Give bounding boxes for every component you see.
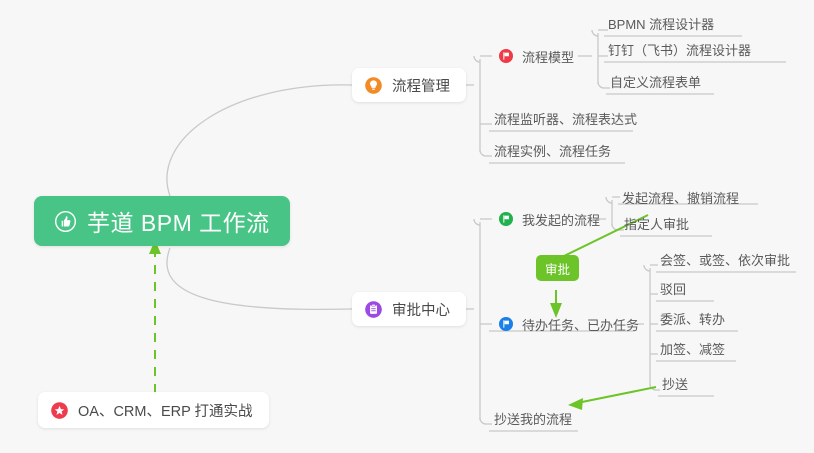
node-dingtalk-feishu-designer-label: 钉钉（飞书）流程设计器 — [608, 40, 751, 59]
node-cc-to-me[interactable]: 抄送我的流程 — [486, 404, 582, 432]
node-assignee-approval[interactable]: 指定人审批 — [616, 209, 699, 237]
link-mine-cap-top — [606, 197, 612, 203]
link-todo-cap-top — [644, 265, 650, 271]
floating-note-node[interactable]: OA、CRM、ERP 打通实战 — [38, 392, 269, 428]
node-listener-expression-label: 流程监听器、流程表达式 — [494, 109, 637, 128]
node-reject-label: 驳回 — [660, 279, 686, 298]
node-bpmn-designer[interactable]: BPMN 流程设计器 — [600, 9, 724, 37]
node-todo-done-tasks[interactable]: 待办任务、已办任务 — [492, 310, 649, 338]
node-start-cancel-process[interactable]: 发起流程、撤销流程 — [614, 183, 749, 211]
mindmap-canvas: 芋道 BPM 工作流 OA、CRM、ERP 打通实战 流程管理 — [0, 0, 814, 453]
node-multi-sign[interactable]: 会签、或签、依次审批 — [652, 245, 800, 273]
node-custom-process-form-label: 自定义流程表单 — [610, 72, 701, 91]
node-add-remove-sign[interactable]: 加签、减签 — [652, 334, 735, 362]
star-icon — [50, 401, 69, 420]
clipboard-icon — [364, 300, 383, 319]
flag-blue-icon — [498, 316, 514, 332]
approval-tag-label: 审批 — [545, 259, 570, 278]
flag-red-icon — [498, 48, 514, 64]
node-instance-task-label: 流程实例、流程任务 — [494, 141, 611, 160]
node-reject[interactable]: 驳回 — [652, 274, 696, 302]
arrow-cc-to-ccme — [577, 387, 656, 403]
node-cc-to-me-label: 抄送我的流程 — [494, 409, 572, 428]
node-instance-task[interactable]: 流程实例、流程任务 — [486, 136, 621, 164]
node-my-started-process[interactable]: 我发起的流程 — [492, 205, 610, 233]
node-cc-label: 抄送 — [662, 374, 688, 393]
node-bpmn-designer-label: BPMN 流程设计器 — [608, 14, 714, 33]
node-listener-expression[interactable]: 流程监听器、流程表达式 — [486, 104, 647, 132]
node-delegate-transfer[interactable]: 委派、转办 — [652, 304, 735, 332]
branch-process-management-label: 流程管理 — [392, 75, 450, 96]
link-pm-spine-top-cap — [474, 56, 480, 62]
node-add-remove-sign-label: 加签、减签 — [660, 339, 725, 358]
node-my-started-process-label: 我发起的流程 — [522, 210, 600, 229]
node-delegate-transfer-label: 委派、转办 — [660, 309, 725, 328]
branch-process-management[interactable]: 流程管理 — [352, 68, 466, 102]
node-cc[interactable]: 抄送 — [654, 369, 698, 397]
link-root-to-approval-center — [167, 248, 352, 309]
branch-approval-center-label: 审批中心 — [392, 299, 450, 320]
node-todo-done-tasks-label: 待办任务、已办任务 — [522, 315, 639, 334]
node-process-model-label: 流程模型 — [522, 47, 574, 66]
branch-approval-center[interactable]: 审批中心 — [352, 292, 466, 326]
node-custom-process-form[interactable]: 自定义流程表单 — [602, 67, 711, 95]
root-label: 芋道 BPM 工作流 — [87, 204, 270, 238]
node-assignee-approval-label: 指定人审批 — [624, 214, 689, 233]
node-multi-sign-label: 会签、或签、依次审批 — [660, 250, 790, 269]
link-ac-cap-top — [474, 219, 480, 225]
thumbs-up-icon — [54, 210, 77, 233]
link-model-cap-top — [592, 30, 598, 36]
node-start-cancel-process-label: 发起流程、撤销流程 — [622, 188, 739, 207]
link-root-to-process-management — [167, 85, 352, 196]
root-node[interactable]: 芋道 BPM 工作流 — [34, 196, 290, 246]
node-dingtalk-feishu-designer[interactable]: 钉钉（飞书）流程设计器 — [600, 35, 761, 63]
flag-green-icon — [498, 211, 514, 227]
node-process-model[interactable]: 流程模型 — [492, 42, 584, 70]
lightbulb-icon — [364, 76, 383, 95]
approval-tag[interactable]: 审批 — [536, 255, 579, 281]
floating-note-label: OA、CRM、ERP 打通实战 — [78, 400, 253, 421]
